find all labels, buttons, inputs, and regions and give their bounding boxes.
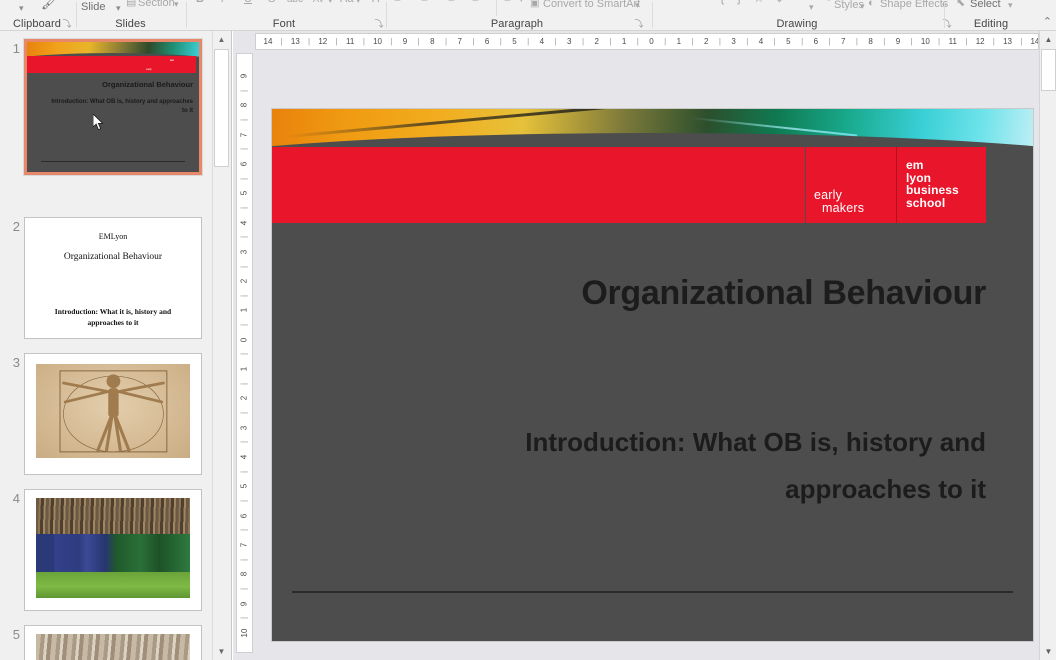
- h-ruler-minor-tick: |: [418, 34, 420, 49]
- logo-makers-word: makers: [814, 202, 864, 215]
- change-case-button[interactable]: Aa: [340, 0, 353, 6]
- shape-effects-button[interactable]: Shape Effects: [880, 0, 948, 11]
- quick-styles-caret[interactable]: ▾: [860, 0, 865, 13]
- h-ruler-tick: 5: [512, 34, 516, 49]
- paragraph-inner-sep: [496, 0, 497, 16]
- v-ruler-tick: 4: [237, 218, 252, 227]
- h-ruler-tick: 10: [373, 34, 382, 49]
- thumbnail-box-2[interactable]: EMLyon Organizational Behaviour Introduc…: [24, 217, 202, 339]
- ribbon: Paste ▾ 🖌 Clipboard ⤵ New Slide ▾ ▤ Sect…: [0, 0, 1056, 31]
- thumbnail-box-1[interactable]: early em Organizational Behaviour Introd…: [24, 39, 202, 175]
- shape-star-icon[interactable]: ☆: [753, 0, 765, 4]
- v-ruler-minor-tick: |: [237, 467, 252, 476]
- mini-logo-block: early em: [144, 56, 196, 73]
- v-ruler-minor-tick: |: [237, 555, 252, 564]
- editor-vertical-scrollbar[interactable]: ▲ ▼: [1039, 31, 1056, 660]
- muddy-scrum-image: [36, 634, 191, 660]
- thumbnail-box-5[interactable]: [24, 625, 202, 660]
- v-ruler-tick: 6: [237, 159, 252, 168]
- h-ruler-minor-tick: |: [527, 34, 529, 49]
- shapes-gallery-more-icon[interactable]: ⌄: [774, 0, 785, 4]
- h-ruler-tick: 1: [677, 34, 681, 49]
- mini-slide-4: [25, 490, 201, 610]
- h-ruler-tick: 13: [1003, 34, 1012, 49]
- v-ruler-tick: 10: [237, 628, 252, 637]
- horizontal-ruler[interactable]: 14|13|12|11|10|9|8|7|6|5|4|3|2|1|0|1|2|3…: [255, 33, 1039, 50]
- paragraph-dialog-launcher[interactable]: ⤵: [634, 19, 644, 29]
- v-ruler-tick: 2: [237, 277, 252, 286]
- select-button[interactable]: Select: [970, 0, 1001, 11]
- shape-curve-icon[interactable]: ⌒: [680, 0, 693, 4]
- h-ruler-minor-tick: |: [281, 34, 283, 49]
- mini2-line1: EMLyon: [25, 232, 201, 241]
- h-ruler-tick: 14: [1030, 34, 1039, 49]
- logo-school-word: school: [906, 197, 959, 210]
- v-ruler-tick: 6: [237, 511, 252, 520]
- v-ruler-tick: 1: [237, 365, 252, 374]
- thumbnail-number-4: 4: [4, 491, 20, 506]
- logo-emlyon-text: em lyon business school: [906, 159, 959, 209]
- v-ruler-minor-tick: |: [237, 584, 252, 593]
- thumbnail-box-4[interactable]: [24, 489, 202, 611]
- ribbon-group-drawing: ✎ ⌒ ⌃ { } ☆ ⌄ Arrange ▾ Quick Styles ▾ ◐…: [654, 0, 940, 31]
- h-ruler-tick: 0: [649, 34, 653, 49]
- h-ruler-tick: 9: [896, 34, 900, 49]
- v-ruler-tick: 5: [237, 482, 252, 491]
- h-ruler-tick: 11: [346, 34, 354, 49]
- ribbon-group-label-paragraph: Paragraph: [388, 18, 646, 30]
- v-ruler-tick: 7: [237, 541, 252, 550]
- v-ruler-tick: 1: [237, 306, 252, 315]
- crowd-band: [36, 498, 191, 534]
- h-ruler-tick: 11: [949, 34, 957, 49]
- v-ruler-tick: 5: [237, 189, 252, 198]
- shape-arc-icon[interactable]: ⌃: [700, 0, 710, 4]
- h-ruler-minor-tick: |: [363, 34, 365, 49]
- h-ruler-tick: 10: [921, 34, 930, 49]
- h-ruler-tick: 7: [841, 34, 845, 49]
- ribbon-sep-1: [76, 2, 77, 28]
- h-ruler-minor-tick: |: [308, 34, 310, 49]
- slide-canvas[interactable]: early makers em lyon business school Org…: [272, 109, 1033, 641]
- vitruvian-figure-icon: [36, 364, 191, 459]
- arrange-caret[interactable]: ▾: [809, 1, 814, 14]
- h-ruler-tick: 6: [485, 34, 489, 49]
- justify-button[interactable]: ≡: [472, 0, 479, 5]
- mini-slide-2: EMLyon Organizational Behaviour Introduc…: [25, 218, 201, 338]
- v-ruler-minor-tick: |: [237, 497, 252, 506]
- h-ruler-tick: 6: [814, 34, 818, 49]
- h-ruler-minor-tick: |: [472, 34, 474, 49]
- shape-effects-icon[interactable]: ◐: [868, 0, 875, 10]
- new-slide-dropdown-caret[interactable]: ▾: [116, 2, 121, 15]
- v-ruler-minor-tick: |: [237, 409, 252, 418]
- thumbnail-number-3: 3: [4, 355, 20, 370]
- thumbnail-slide-1[interactable]: 1 early em Organizational Behaviour Intr…: [0, 39, 212, 179]
- ribbon-sep-2: [186, 2, 187, 28]
- convert-smartart-caret[interactable]: ▾: [635, 0, 640, 12]
- v-ruler-minor-tick: |: [237, 203, 252, 212]
- ribbon-group-label-font: Font: [188, 18, 380, 30]
- thumbnail-scroll-down-arrow[interactable]: ▼: [213, 643, 230, 660]
- h-ruler-minor-tick: |: [445, 34, 447, 49]
- h-ruler-minor-tick: |: [856, 34, 858, 49]
- mini-slide-subtitle: Introduction: What OB is, history and ap…: [45, 98, 193, 116]
- v-ruler-tick: 0: [237, 335, 252, 344]
- h-ruler-minor-tick: |: [883, 34, 885, 49]
- mini2-line2: Organizational Behaviour: [25, 252, 201, 262]
- h-ruler-tick: 1: [622, 34, 626, 49]
- ribbon-group-font: B I U S abc AV ▾ Aa ▾ A Font ⤵: [188, 0, 380, 31]
- text-shadow-button[interactable]: S: [268, 0, 275, 6]
- thumbnail-number-2: 2: [4, 219, 20, 234]
- h-ruler-minor-tick: |: [746, 34, 748, 49]
- collapse-ribbon-icon[interactable]: ⌃: [1043, 15, 1052, 28]
- thumbnail-number-1: 1: [4, 41, 20, 56]
- v-ruler-tick: 9: [237, 71, 252, 80]
- h-ruler-minor-tick: |: [965, 34, 967, 49]
- align-text-button[interactable]: ≡: [504, 0, 511, 5]
- italic-button[interactable]: I: [221, 0, 224, 6]
- shape-right-brace-icon[interactable]: }: [737, 0, 741, 4]
- character-spacing-button[interactable]: AV: [313, 0, 324, 6]
- slide-horizontal-rule: [292, 591, 1013, 593]
- editor-scrollbar-thumb[interactable]: [1041, 49, 1056, 91]
- thumbnail-scroll-up-arrow[interactable]: ▲: [213, 31, 230, 48]
- v-ruler-minor-tick: |: [237, 145, 252, 154]
- h-ruler-tick: 12: [318, 34, 327, 49]
- thumbnail-slide-4[interactable]: 4: [0, 489, 212, 611]
- h-ruler-minor-tick: |: [911, 34, 913, 49]
- ribbon-group-slides: New Slide ▾ ▤ Section ▾ Slides: [78, 0, 183, 31]
- h-ruler-minor-tick: |: [582, 34, 584, 49]
- h-ruler-minor-tick: |: [555, 34, 557, 49]
- font-dialog-launcher[interactable]: ⤵: [374, 19, 384, 29]
- h-ruler-minor-tick: |: [664, 34, 666, 49]
- v-ruler-minor-tick: |: [237, 174, 252, 183]
- v-ruler-minor-tick: |: [237, 291, 252, 300]
- h-ruler-tick: 5: [786, 34, 790, 49]
- thumbnail-pane-scrollbar[interactable]: ▲ ▼: [212, 31, 229, 660]
- slide-subtitle-line-2: approaches to it: [372, 466, 986, 513]
- h-ruler-minor-tick: |: [719, 34, 721, 49]
- h-ruler-tick: 2: [704, 34, 708, 49]
- arrange-button[interactable]: Arrange: [799, 0, 838, 2]
- underline-button[interactable]: U: [244, 0, 252, 6]
- logo-em-word: em: [906, 159, 959, 172]
- h-ruler-tick: 13: [291, 34, 300, 49]
- v-ruler-tick: 9: [237, 599, 252, 608]
- h-ruler-minor-tick: |: [993, 34, 995, 49]
- mini-slide-1: early em Organizational Behaviour Introd…: [27, 42, 199, 172]
- muddy-crowd-band: [36, 634, 191, 660]
- mini-slide-rule: [41, 161, 186, 162]
- h-ruler-minor-tick: |: [637, 34, 639, 49]
- slide-subtitle-line-1: Introduction: What OB is, history and: [372, 419, 986, 466]
- shape-scribble-icon[interactable]: ✎: [660, 0, 669, 5]
- character-spacing-caret[interactable]: ▾: [328, 0, 333, 7]
- section-button[interactable]: Section: [138, 0, 175, 10]
- align-right-button[interactable]: ≡: [448, 0, 455, 5]
- thumbnail-number-5: 5: [4, 627, 20, 642]
- logo-early-makers-text: early makers: [814, 189, 864, 215]
- players-band: [36, 534, 191, 574]
- mini2-line3: Introduction: What it is, history and ap…: [39, 306, 187, 328]
- select-cursor-icon[interactable]: ⬉: [956, 0, 965, 10]
- h-ruler-minor-tick: |: [828, 34, 830, 49]
- v-ruler-tick: 3: [237, 423, 252, 432]
- powerpoint-window: Paste ▾ 🖌 Clipboard ⤵ New Slide ▾ ▤ Sect…: [0, 0, 1056, 660]
- h-ruler-tick: 12: [976, 34, 985, 49]
- align-center-button[interactable]: ≡: [421, 0, 428, 5]
- slide-title-text[interactable]: Organizational Behaviour: [316, 274, 986, 313]
- convert-to-smartart-button[interactable]: Convert to SmartArt: [543, 0, 640, 11]
- align-text-caret[interactable]: ▾: [519, 0, 524, 6]
- section-dropdown-caret[interactable]: ▾: [174, 0, 179, 11]
- h-ruler-tick: 14: [264, 34, 273, 49]
- h-ruler-minor-tick: |: [609, 34, 611, 49]
- clipboard-dialog-launcher[interactable]: ⤵: [62, 19, 72, 29]
- ribbon-group-label-slides: Slides: [78, 18, 183, 30]
- thumbnail-slide-3[interactable]: 3: [0, 353, 212, 475]
- h-ruler-tick: 7: [457, 34, 461, 49]
- strikethrough-button[interactable]: abc: [287, 0, 303, 6]
- section-icon[interactable]: ▤: [126, 0, 136, 9]
- mini-slide-5: [25, 626, 201, 660]
- format-painter-icon[interactable]: 🖌: [41, 0, 58, 9]
- logo-early-makers-half: early makers: [806, 147, 896, 223]
- font-color-button[interactable]: A: [372, 0, 379, 6]
- shape-left-brace-icon[interactable]: {: [720, 0, 724, 4]
- h-ruler-minor-tick: |: [500, 34, 502, 49]
- thumbnail-scrollbar-thumb[interactable]: [214, 49, 229, 167]
- v-ruler-tick: 2: [237, 394, 252, 403]
- emlyon-logo: early makers em lyon business school: [806, 147, 986, 223]
- v-ruler-minor-tick: |: [237, 115, 252, 124]
- ribbon-group-clipboard: Paste ▾ 🖌 Clipboard ⤵: [0, 0, 74, 31]
- smartart-icon[interactable]: ▣: [530, 0, 539, 10]
- h-ruler-minor-tick: |: [774, 34, 776, 49]
- h-ruler-tick: 3: [731, 34, 735, 49]
- h-ruler-minor-tick: |: [1020, 34, 1022, 49]
- v-ruler-minor-tick: |: [237, 350, 252, 359]
- h-ruler-minor-tick: |: [801, 34, 803, 49]
- v-ruler-minor-tick: |: [237, 262, 252, 271]
- ribbon-sep-5: [944, 2, 945, 28]
- slide-edit-area: 14|13|12|11|10|9|8|7|6|5|4|3|2|1|0|1|2|3…: [233, 31, 1039, 660]
- ribbon-group-paragraph: ≡ ≡ ≡ ≡ ≡ ▾ ▣ Convert to SmartArt ▾ Para…: [388, 0, 646, 31]
- slide-subtitle-text[interactable]: Introduction: What OB is, history and ap…: [372, 419, 986, 513]
- slide-thumbnail-pane[interactable]: 1 early em Organizational Behaviour Intr…: [0, 31, 232, 660]
- bold-button[interactable]: B: [196, 0, 204, 6]
- select-caret[interactable]: ▾: [1008, 0, 1013, 12]
- h-ruler-tick: 8: [430, 34, 434, 49]
- h-ruler-minor-tick: |: [335, 34, 337, 49]
- logo-emlyon-half: em lyon business school: [896, 147, 986, 223]
- new-slide-button[interactable]: Slide: [81, 1, 105, 14]
- editor-scroll-down-arrow[interactable]: ▼: [1040, 643, 1056, 660]
- thumbnail-slide-2[interactable]: 2 EMLyon Organizational Behaviour Introd…: [0, 217, 212, 339]
- h-ruler-tick: 4: [540, 34, 544, 49]
- thumbnail-slide-5[interactable]: 5: [0, 625, 212, 660]
- align-left-button[interactable]: ≡: [394, 0, 401, 5]
- v-ruler-minor-tick: |: [237, 86, 252, 95]
- paste-dropdown-caret[interactable]: ▾: [19, 2, 24, 15]
- h-ruler-tick: 3: [567, 34, 571, 49]
- vertical-ruler[interactable]: 9|8|7|6|5|4|3|2|1|0|1|2|3|4|5|6|7|8|9|10: [236, 53, 253, 653]
- h-ruler-minor-tick: |: [938, 34, 940, 49]
- editor-scroll-up-arrow[interactable]: ▲: [1040, 31, 1056, 48]
- v-ruler-minor-tick: |: [237, 526, 252, 535]
- h-ruler-minor-tick: |: [692, 34, 694, 49]
- h-ruler-minor-tick: |: [390, 34, 392, 49]
- ribbon-group-label-editing: Editing: [946, 18, 1036, 30]
- change-case-caret[interactable]: ▾: [356, 0, 361, 7]
- h-ruler-tick: 9: [403, 34, 407, 49]
- h-ruler-tick: 2: [594, 34, 598, 49]
- ribbon-group-editing: ⬉ Select ▾ Editing: [946, 0, 1036, 31]
- v-ruler-minor-tick: |: [237, 321, 252, 330]
- vitruvian-man-image: [36, 364, 191, 459]
- v-ruler-tick: 7: [237, 130, 252, 139]
- mini-logo-early-makers: early: [146, 68, 152, 71]
- mini-logo-emlyon: em: [170, 59, 174, 62]
- ribbon-group-label-drawing: Drawing: [654, 18, 940, 30]
- h-ruler-tick: 4: [759, 34, 763, 49]
- v-ruler-minor-tick: |: [237, 614, 252, 623]
- grass-band: [36, 572, 191, 598]
- v-ruler-minor-tick: |: [237, 379, 252, 388]
- mini-slide-title: Organizational Behaviour: [33, 80, 193, 89]
- v-ruler-minor-tick: |: [237, 438, 252, 447]
- h-ruler-tick: 8: [868, 34, 872, 49]
- logo-business-word: business: [906, 184, 959, 197]
- mini-slide-3: [25, 354, 201, 474]
- ribbon-sep-4: [652, 2, 653, 28]
- rugby-scrum-image: [36, 498, 191, 598]
- red-banner: [272, 147, 805, 223]
- v-ruler-tick: 8: [237, 101, 252, 110]
- v-ruler-tick: 3: [237, 247, 252, 256]
- ribbon-sep-3: [386, 2, 387, 28]
- thumbnail-box-3[interactable]: [24, 353, 202, 475]
- v-ruler-tick: 8: [237, 570, 252, 579]
- v-ruler-tick: 4: [237, 453, 252, 462]
- logo-early-word: early: [814, 188, 842, 202]
- v-ruler-minor-tick: |: [237, 233, 252, 242]
